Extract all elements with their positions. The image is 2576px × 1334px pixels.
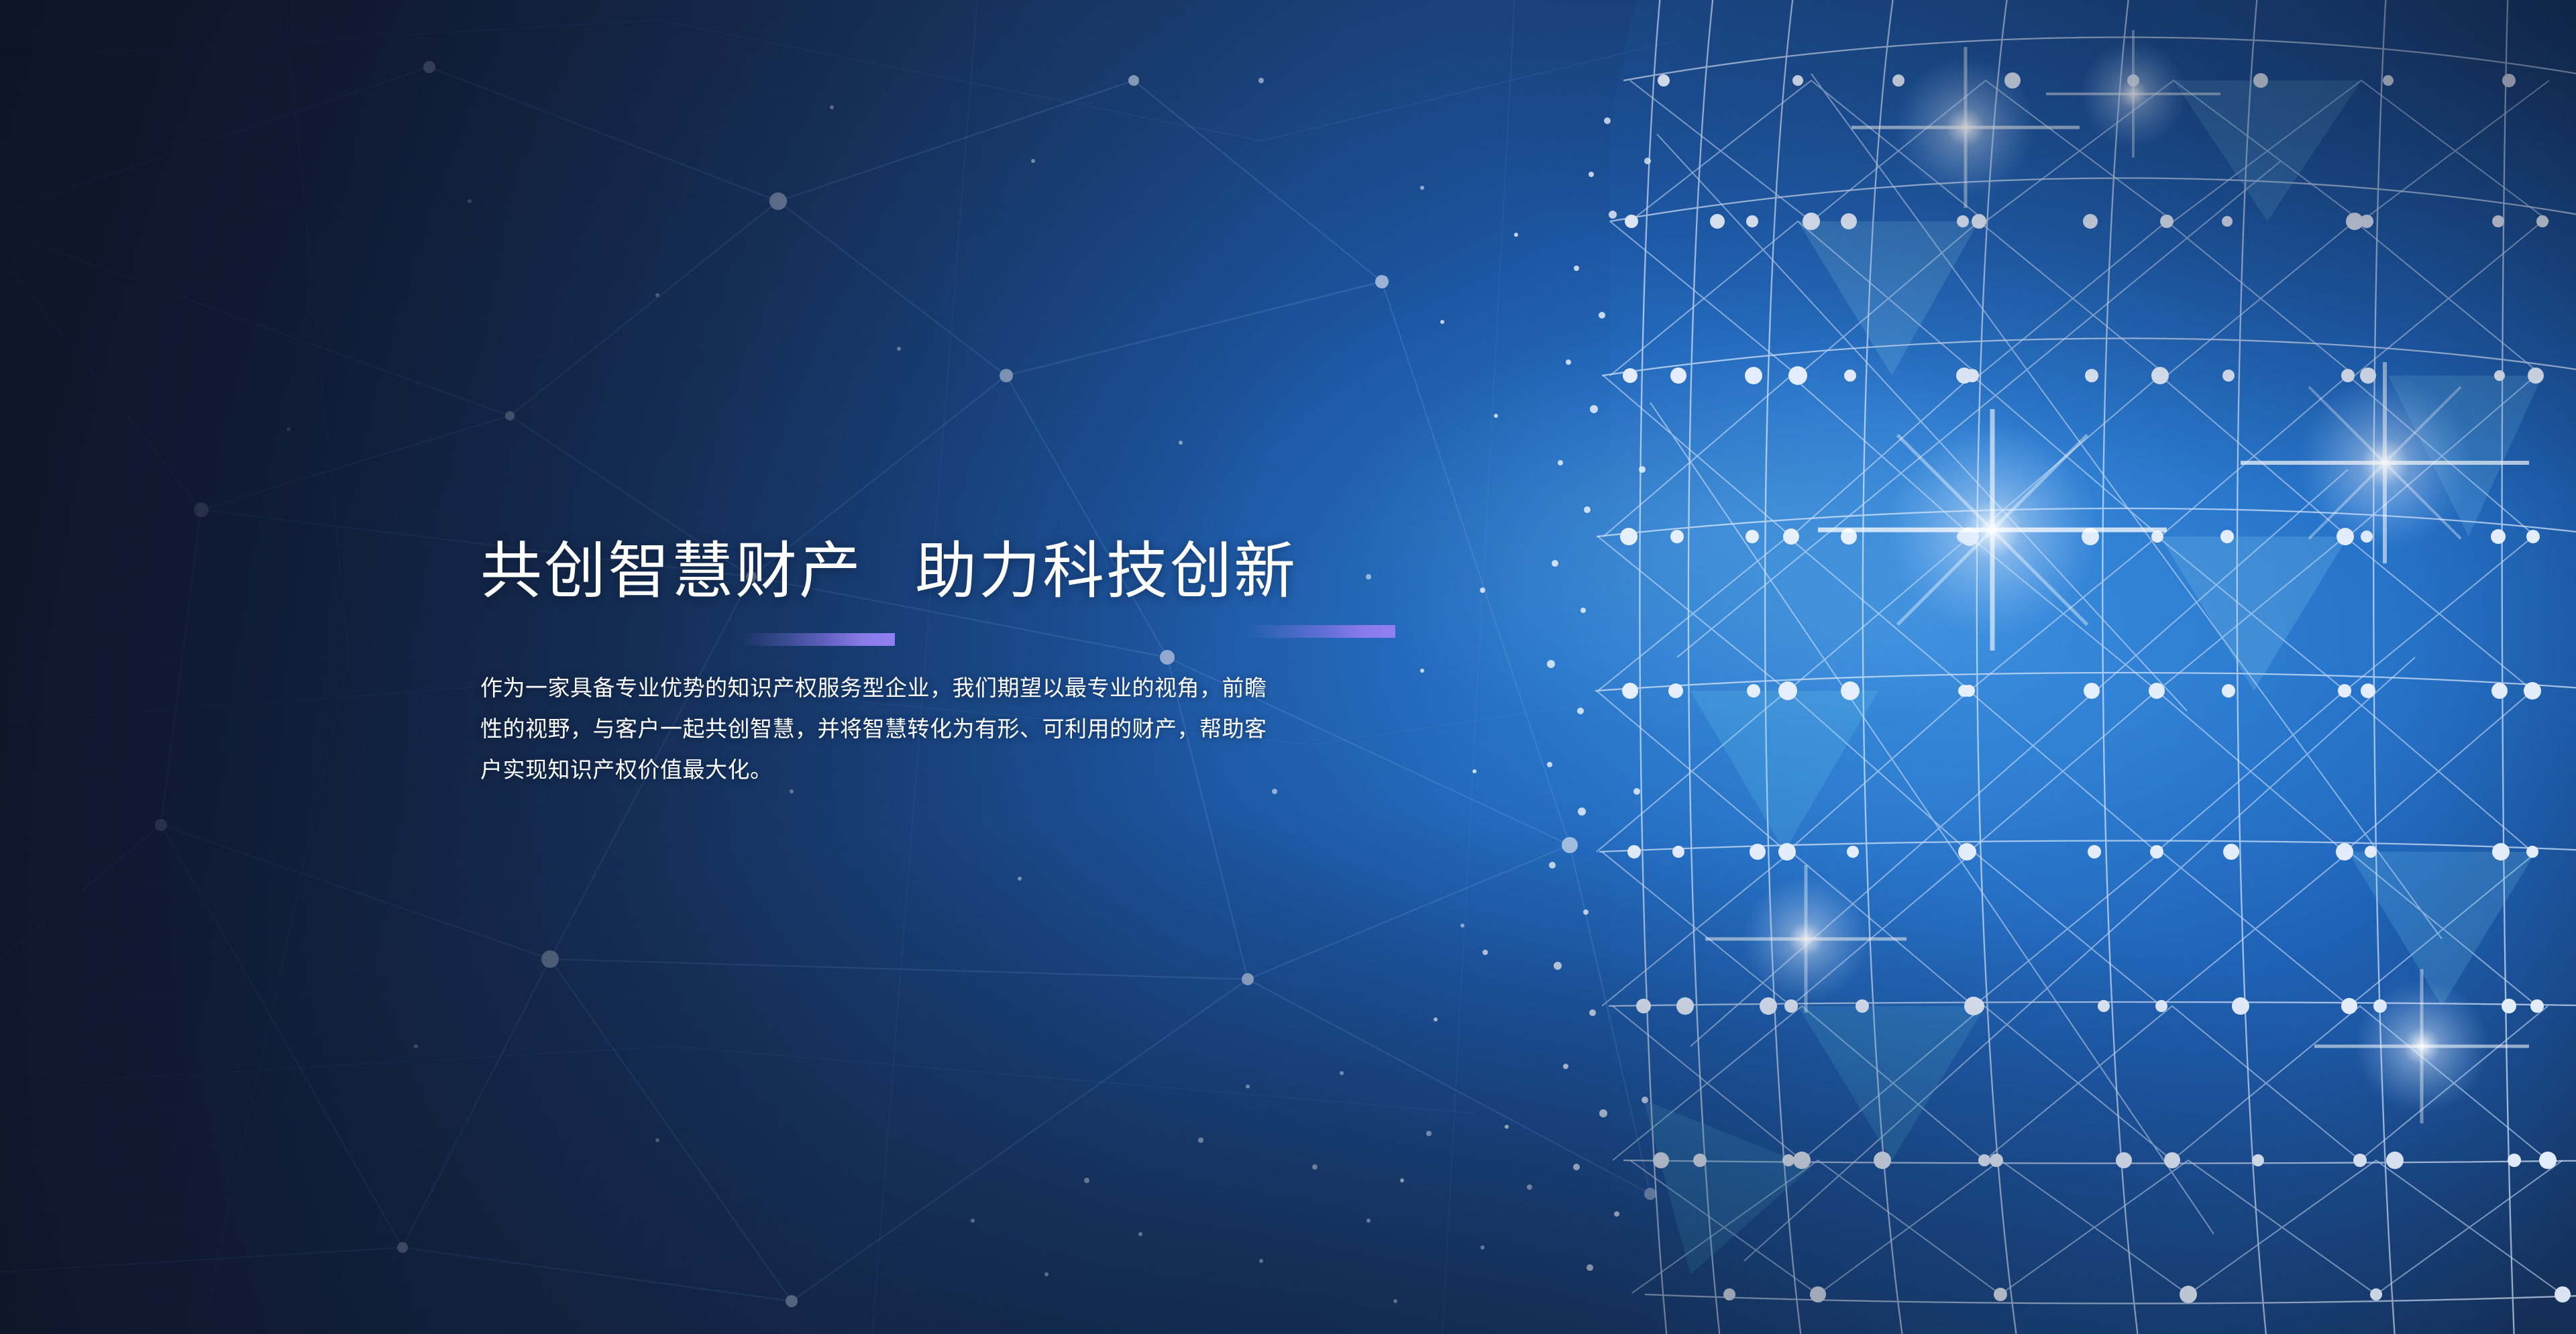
headline-accent-underline-1: [739, 633, 895, 646]
hero-copy: 共创智慧财产助力科技创新 作为一家具备专业优势的知识产权服务型企业，我们期望以最…: [480, 541, 1487, 790]
hero-banner: 共创智慧财产助力科技创新 作为一家具备专业优势的知识产权服务型企业，我们期望以最…: [0, 0, 2576, 1334]
headline-part-1: 共创智慧财产: [480, 537, 863, 606]
headline-accent-underline-2: [1242, 625, 1395, 638]
description-line: 作为一家具备专业优势的知识产权服务型企业，我们期望以最专业的视角，前瞻: [480, 667, 1487, 708]
description-line: 性的视野，与客户一起共创智慧，并将智慧转化为有形、可利用的财产，帮助客: [480, 708, 1487, 749]
hero-description: 作为一家具备专业优势的知识产权服务型企业，我们期望以最专业的视角，前瞻 性的视野…: [480, 667, 1487, 790]
description-line: 户实现知识产权价值最大化。: [480, 749, 1487, 790]
page-title: 共创智慧财产助力科技创新: [480, 541, 1487, 604]
headline-part-2: 助力科技创新: [915, 537, 1297, 606]
